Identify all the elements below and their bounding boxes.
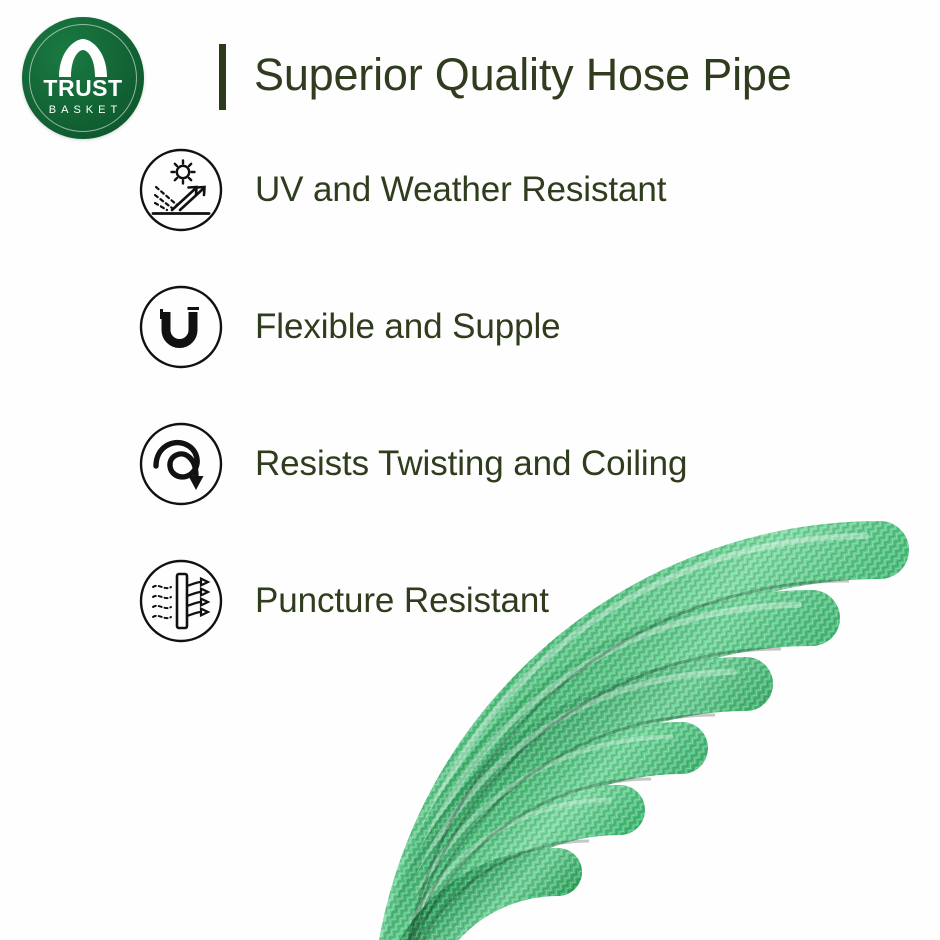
basket-arch-icon xyxy=(22,37,144,77)
feature-item-anti-twist: Resists Twisting and Coiling xyxy=(139,418,687,510)
feature-label: Puncture Resistant xyxy=(255,582,549,621)
feature-item-flexible: Flexible and Supple xyxy=(139,281,687,373)
flexible-bent-hose-icon xyxy=(139,285,223,369)
title-accent-bar xyxy=(219,44,226,110)
logo-primary-text: TRUST xyxy=(22,77,144,100)
trustbasket-logo: TRUST BASKET xyxy=(22,17,144,139)
page-title-row: Superior Quality Hose Pipe xyxy=(219,42,792,114)
logo-secondary-text: BASKET xyxy=(22,105,144,116)
product-feature-infographic: TRUST BASKET Superior Quality Hose Pipe xyxy=(0,0,940,940)
feature-list: UV and Weather Resistant Flexible and Su… xyxy=(139,144,687,647)
feature-item-puncture: Puncture Resistant xyxy=(139,555,687,647)
feature-item-uv-weather: UV and Weather Resistant xyxy=(139,144,687,236)
feature-label: UV and Weather Resistant xyxy=(255,171,666,210)
feature-label: Flexible and Supple xyxy=(255,308,561,347)
page-title: Superior Quality Hose Pipe xyxy=(254,42,792,108)
feature-label: Resists Twisting and Coiling xyxy=(255,445,687,484)
uv-sun-reflect-icon xyxy=(139,148,223,232)
puncture-barrier-arrows-icon xyxy=(139,559,223,643)
anti-twist-coil-arrow-icon xyxy=(139,422,223,506)
